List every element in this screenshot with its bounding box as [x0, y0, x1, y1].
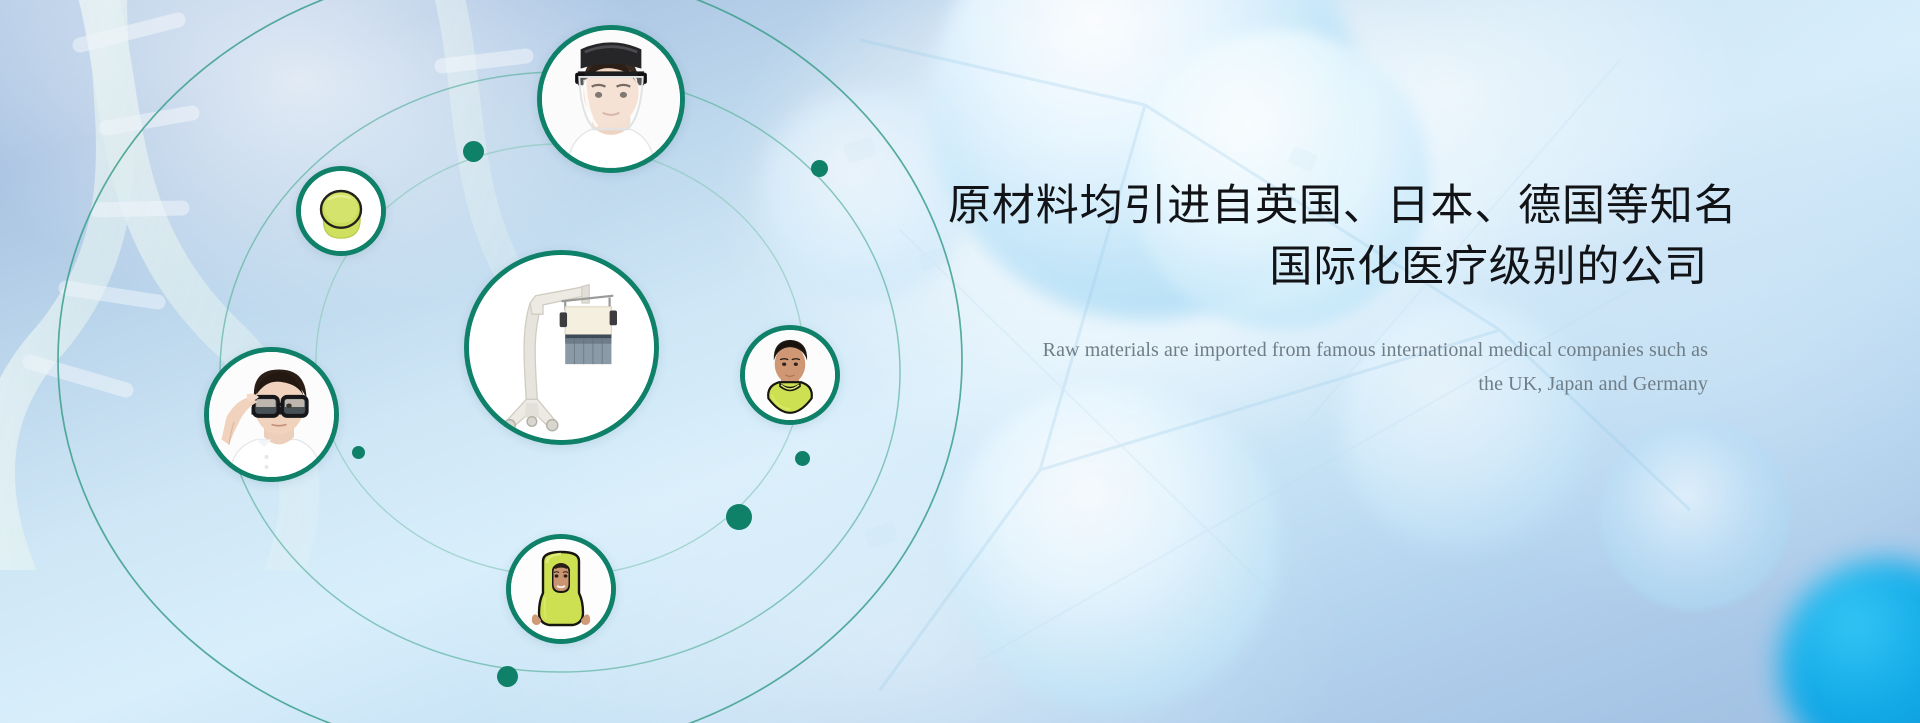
hero-banner: 原材料均引进自英国、日本、德国等知名 国际化医疗级别的公司 Raw materi…	[0, 0, 1920, 723]
mobile-radiation-barrier-icon	[469, 255, 654, 440]
mobile-barrier-photo	[469, 255, 654, 440]
headline-line-2: 国际化医疗级别的公司	[948, 237, 1708, 298]
orbit-node-bottom	[497, 666, 518, 687]
orbit-node-top	[463, 141, 484, 162]
lead-cap-icon	[301, 171, 381, 251]
hero-copy: 原材料均引进自英国、日本、德国等知名 国际化医疗级别的公司 Raw materi…	[948, 176, 1708, 401]
bubble-lead-cap[interactable]	[296, 166, 386, 256]
thyroid-collar-icon	[745, 330, 835, 420]
headline: 原材料均引进自英国、日本、德国等知名 国际化医疗级别的公司	[948, 176, 1708, 298]
lead-hood-photo	[511, 539, 611, 639]
subtitle: Raw materials are imported from famous i…	[948, 334, 1708, 401]
face-shield-photo	[542, 30, 680, 168]
lead-glasses-photo	[209, 352, 334, 477]
subtitle-line-1: Raw materials are imported from famous i…	[948, 334, 1708, 368]
bubble-face-shield[interactable]	[537, 25, 685, 173]
bubble-mobile-barrier[interactable]	[464, 250, 659, 445]
headline-line-1: 原材料均引进自英国、日本、德国等知名	[948, 182, 1737, 230]
lead-glasses-icon	[209, 352, 334, 477]
subtitle-line-2: the UK, Japan and Germany	[948, 368, 1708, 402]
orbit-node-upper-right	[811, 160, 828, 177]
lead-hood-icon	[511, 539, 611, 639]
bubble-lead-hood[interactable]	[506, 534, 616, 644]
lead-cap-photo	[301, 171, 381, 251]
thyroid-collar-photo	[745, 330, 835, 420]
bubble-lead-glasses[interactable]	[204, 347, 339, 482]
orbit-node-mid-right	[795, 451, 810, 466]
orbit-node-center-right	[726, 504, 752, 530]
orbit-node-left	[352, 446, 365, 459]
bubble-thyroid-collar[interactable]	[740, 325, 840, 425]
face-shield-icon	[542, 30, 680, 168]
